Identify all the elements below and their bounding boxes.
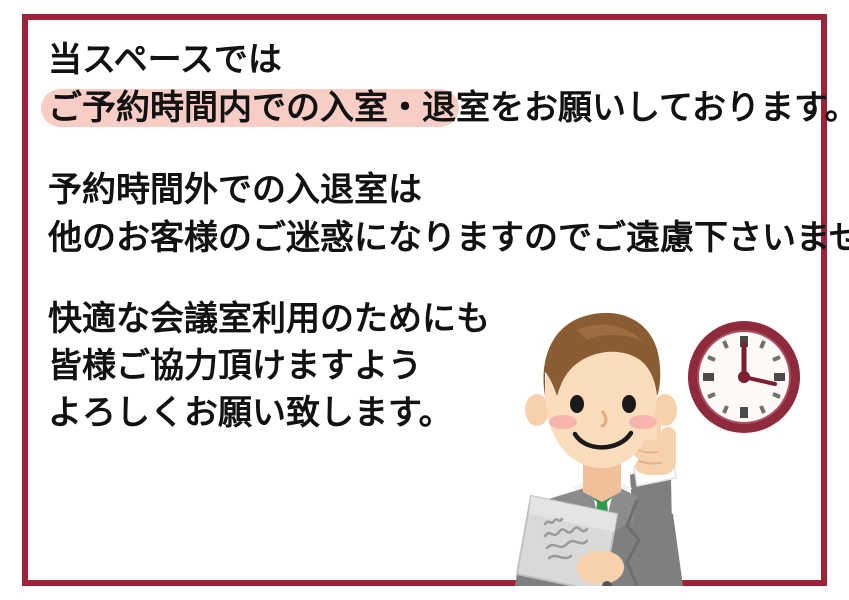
notice-paragraph-2: 予約時間外での入退室は 他のお客様のご迷惑になりますのでご遠慮下さいませ。 xyxy=(48,166,808,262)
notice-line-highlighted: ご予約時間内での入室・退室をお願いしております。 xyxy=(48,84,808,132)
notice-line: 予約時間外での入退室は xyxy=(48,166,808,214)
notice-line-remainder: をお願いしております。 xyxy=(490,89,849,127)
blush-left xyxy=(549,415,577,429)
wall-clock-icon xyxy=(683,316,805,438)
eye-right xyxy=(622,395,636,413)
blush-right xyxy=(629,415,657,429)
notice-line: 当スペースでは xyxy=(48,36,808,84)
highlight-wrapper: ご予約時間内での入室・退室 xyxy=(48,84,490,132)
illustration-group xyxy=(487,300,827,586)
notice-paragraph-1: 当スペースでは ご予約時間内での入室・退室をお願いしております。 xyxy=(48,36,808,132)
poster-canvas: 当スペースでは ご予約時間内での入室・退室をお願いしております。 予約時間外での… xyxy=(0,0,849,600)
clock-center-pin xyxy=(738,371,750,383)
notice-line: 他のお客様のご迷惑になりますのでご遠慮下さいませ。 xyxy=(48,214,808,262)
holding-hand xyxy=(577,550,624,584)
highlighted-phrase: ご予約時間内での入室・退室 xyxy=(48,89,490,127)
eye-left xyxy=(570,395,584,413)
